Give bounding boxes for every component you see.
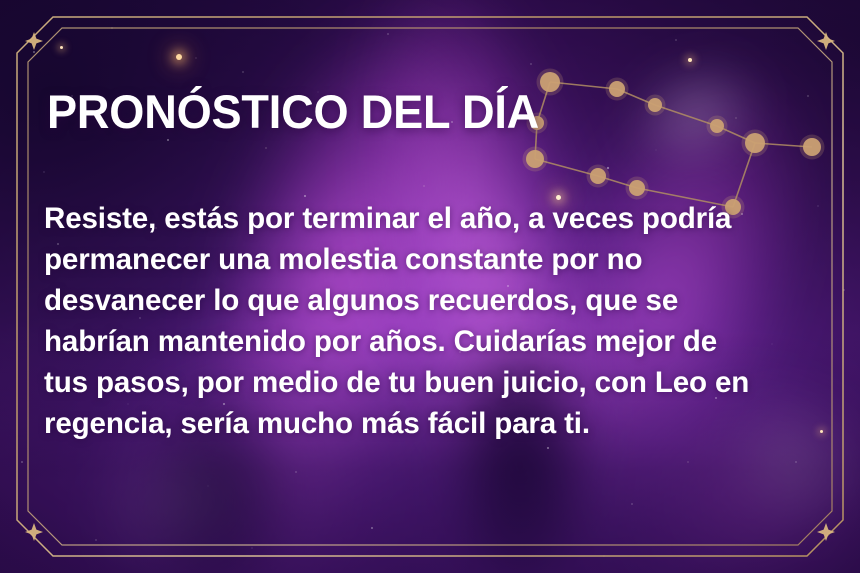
forecast-line: desvanecer lo que algunos recuerdos, que… [44,280,773,321]
forecast-line: habrían mantenido por años. Cuidarías me… [44,321,773,362]
forecast-body: Resiste, estás por terminar el año, a ve… [44,198,784,444]
forecast-line: regencia, sería mucho más fácil para ti. [44,403,773,444]
forecast-line: permanecer una molestia constante por no [44,239,773,280]
horoscope-card: PRONÓSTICO DEL DÍA Resiste, estás por te… [0,0,860,573]
forecast-line: tus pasos, por medio de tu buen juicio, … [44,362,773,403]
page-title: PRONÓSTICO DEL DÍA [47,88,539,135]
forecast-line: Resiste, estás por terminar el año, a ve… [44,198,773,239]
card-content: PRONÓSTICO DEL DÍA Resiste, estás por te… [44,0,804,573]
